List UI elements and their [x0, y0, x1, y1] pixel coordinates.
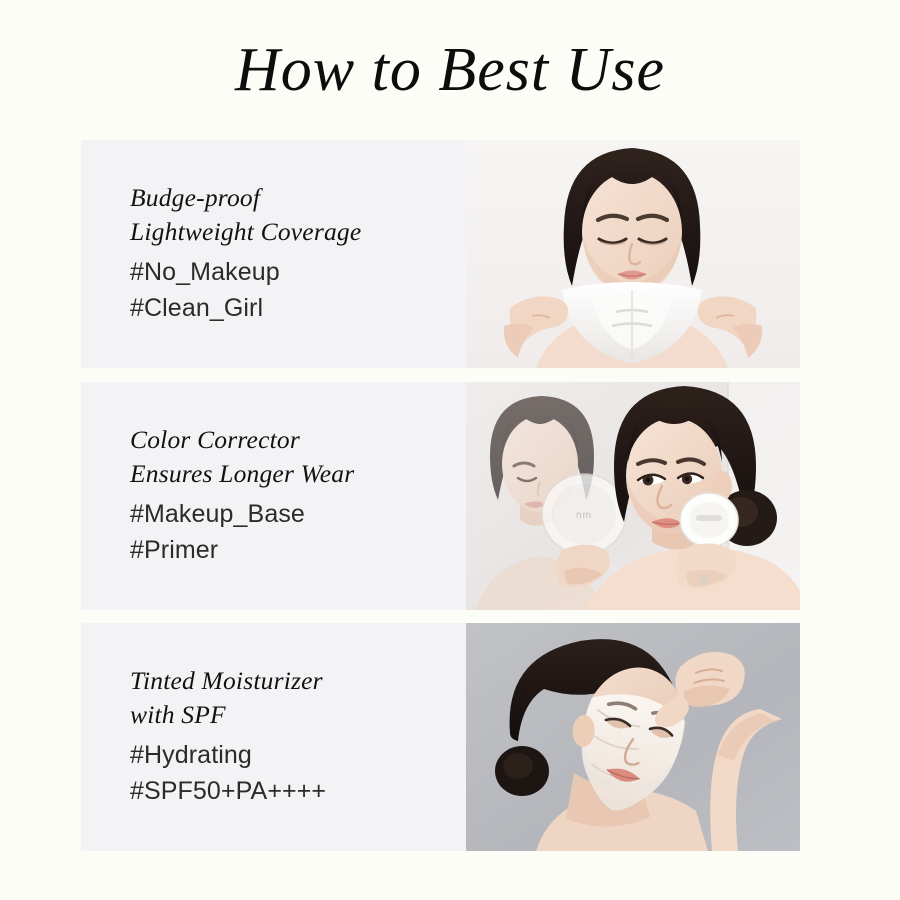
- panel-1-photo: [466, 140, 800, 368]
- panel-3-photo: [466, 623, 800, 851]
- woman-applying-cushion-compact-illustration: nm: [466, 382, 800, 610]
- panel-3-hashtag-1: #Hydrating: [130, 737, 460, 774]
- panel-3-headline-line-1: Tinted Moisturizer: [130, 664, 460, 698]
- woman-holding-white-sheet-mask-illustration: [466, 140, 800, 368]
- panel-2-photo: nm: [466, 382, 800, 610]
- panel-1-hashtag-1: #No_Makeup: [130, 254, 460, 291]
- panel-2-hashtag-1: #Makeup_Base: [130, 496, 460, 533]
- panel-2-headline-line-2: Ensures Longer Wear: [130, 457, 460, 491]
- product-usage-infographic: How to Best Use Budge-proof Lightweight …: [0, 0, 900, 900]
- panel-1-text-block: Budge-proof Lightweight Coverage #No_Mak…: [81, 140, 466, 368]
- woman-wearing-sheet-mask-illustration: [466, 623, 800, 851]
- panel-1-headline-line-1: Budge-proof: [130, 181, 460, 215]
- panel-3-headline-line-2: with SPF: [130, 698, 460, 732]
- panel-3-text-block: Tinted Moisturizer with SPF #Hydrating #…: [81, 623, 466, 851]
- panel-3-hashtag-2: #SPF50+PA++++: [130, 773, 460, 810]
- panel-2-hashtag-2: #Primer: [130, 532, 460, 569]
- svg-text:nm: nm: [576, 510, 592, 521]
- panel-2-text-block: Color Corrector Ensures Longer Wear #Mak…: [81, 382, 466, 610]
- panel-1-hashtag-2: #Clean_Girl: [130, 290, 460, 327]
- page-title: How to Best Use: [0, 38, 900, 103]
- usage-panel-2: Color Corrector Ensures Longer Wear #Mak…: [81, 382, 800, 610]
- panel-1-headline-line-2: Lightweight Coverage: [130, 215, 460, 249]
- usage-panel-1: Budge-proof Lightweight Coverage #No_Mak…: [81, 140, 800, 368]
- panel-2-headline-line-1: Color Corrector: [130, 423, 460, 457]
- usage-panel-3: Tinted Moisturizer with SPF #Hydrating #…: [81, 623, 800, 851]
